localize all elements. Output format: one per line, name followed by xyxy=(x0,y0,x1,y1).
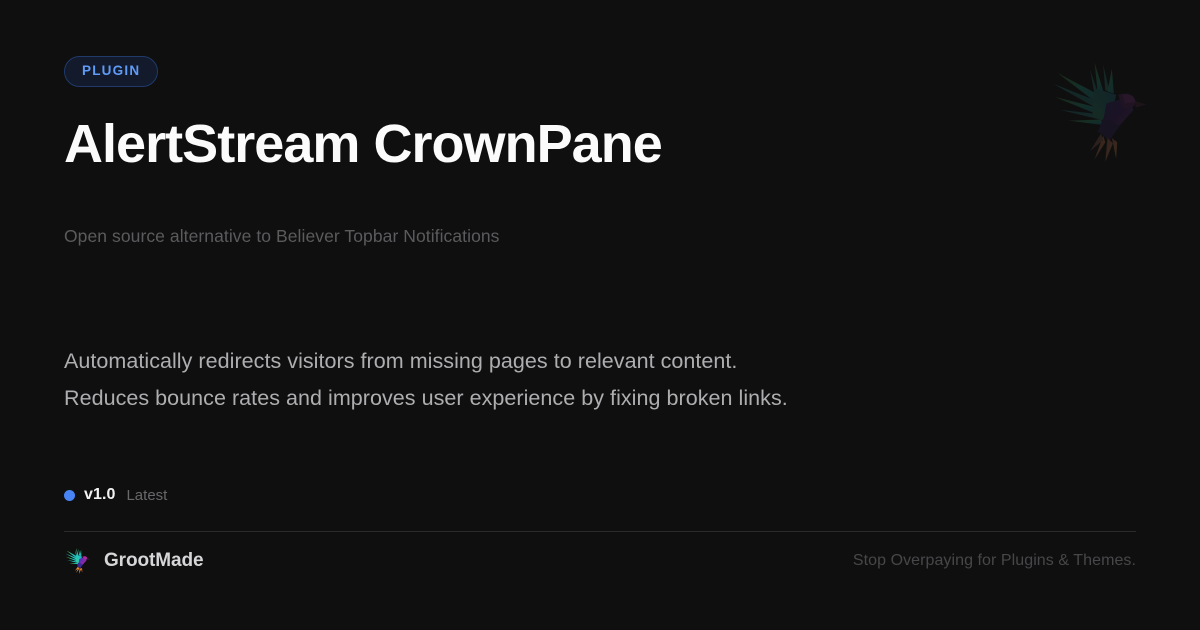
footer-tagline: Stop Overpaying for Plugins & Themes. xyxy=(853,552,1136,570)
status-badge: PLUGIN xyxy=(64,56,158,87)
bird-logo-icon xyxy=(64,547,92,575)
description-line: Reduces bounce rates and improves user e… xyxy=(64,380,984,417)
footer: GrootMade Stop Overpaying for Plugins & … xyxy=(64,546,1136,576)
brand-name: GrootMade xyxy=(104,550,203,572)
version-tag: Latest xyxy=(126,487,167,504)
version-row: v1.0 Latest xyxy=(64,486,167,504)
plugin-hero-card: PLUGIN AlertStream CrownPane Open source… xyxy=(0,0,1200,630)
brand: GrootMade xyxy=(64,547,203,575)
status-dot-icon xyxy=(64,490,75,501)
version-number: v1.0 xyxy=(84,486,115,504)
description-line: Automatically redirects visitors from mi… xyxy=(64,343,984,380)
page-description: Automatically redirects visitors from mi… xyxy=(64,343,984,417)
page-title: AlertStream CrownPane xyxy=(64,115,662,173)
badge-row: PLUGIN xyxy=(64,56,158,87)
page-subtitle: Open source alternative to Believer Topb… xyxy=(64,226,500,247)
bird-logo-watermark-icon xyxy=(1047,58,1155,166)
footer-divider xyxy=(64,531,1136,532)
